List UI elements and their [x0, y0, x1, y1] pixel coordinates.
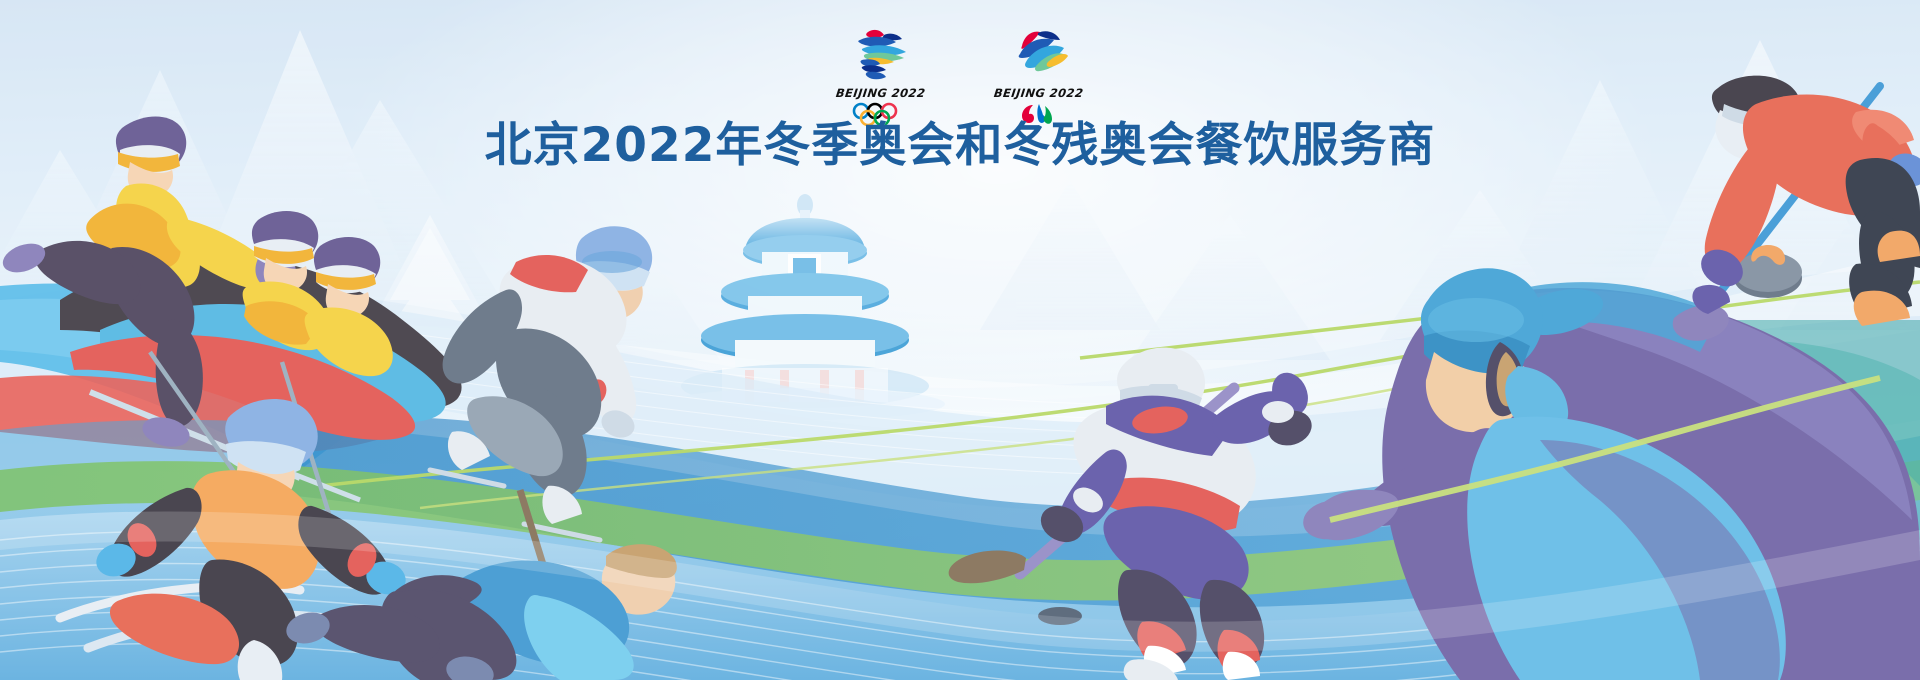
beijing-2022-paralympic-emblem: BEIJING 2022	[987, 26, 1091, 126]
olympic-emblem-mark	[850, 26, 912, 84]
emblem-row: BEIJING 2022 BEIJING 2022	[0, 26, 1920, 126]
olympic-emblem-wordmark: BEIJING 2022	[835, 86, 926, 100]
page-title: 北京2022年冬季奥会和冬残奥会餐饮服务商	[0, 122, 1920, 169]
paralympic-emblem-mark	[1008, 26, 1070, 84]
paralympic-emblem-wordmark: BEIJING 2022	[993, 86, 1084, 100]
beijing-2022-olympic-emblem: BEIJING 2022	[829, 26, 933, 126]
olympic-banner: BEIJING 2022 BEIJING 2022	[0, 0, 1920, 680]
